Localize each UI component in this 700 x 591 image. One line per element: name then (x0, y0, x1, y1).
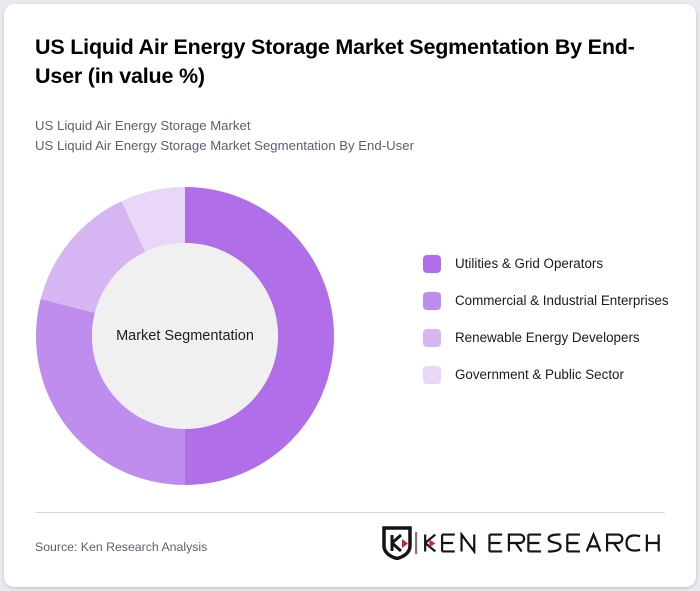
legend-swatch-icon (423, 366, 441, 384)
legend-item[interactable]: Commercial & Industrial Enterprises (423, 291, 679, 311)
legend-item[interactable]: Renewable Energy Developers (423, 328, 679, 348)
page-title: US Liquid Air Energy Storage Market Segm… (35, 33, 675, 91)
donut-center-label: Market Segmentation (116, 327, 254, 345)
legend-item-label: Commercial & Industrial Enterprises (455, 291, 669, 311)
legend-swatch-icon (423, 292, 441, 310)
legend-item-label: Government & Public Sector (455, 365, 624, 385)
ken-research-logo (382, 525, 669, 561)
chart-card: US Liquid Air Energy Storage Market Segm… (4, 4, 696, 587)
legend-swatch-icon (423, 329, 441, 347)
legend-swatch-icon (423, 255, 441, 273)
chart-legend: Utilities & Grid Operators Commercial & … (423, 254, 679, 402)
legend-item-label: Utilities & Grid Operators (455, 254, 603, 274)
legend-item[interactable]: Utilities & Grid Operators (423, 254, 679, 274)
footer-divider (35, 512, 665, 513)
donut-hole: Market Segmentation (92, 243, 278, 429)
shield-logo-icon (382, 526, 412, 560)
subtitle-line-1: US Liquid Air Energy Storage Market (35, 116, 655, 136)
legend-item-label: Renewable Energy Developers (455, 328, 640, 348)
subtitle-line-2: US Liquid Air Energy Storage Market Segm… (35, 136, 655, 156)
logo-wordmark (415, 532, 669, 554)
donut-chart: Market Segmentation (36, 187, 334, 485)
legend-item[interactable]: Government & Public Sector (423, 365, 679, 385)
subtitle-block: US Liquid Air Energy Storage Market US L… (35, 116, 655, 155)
source-note: Source: Ken Research Analysis (35, 540, 207, 554)
